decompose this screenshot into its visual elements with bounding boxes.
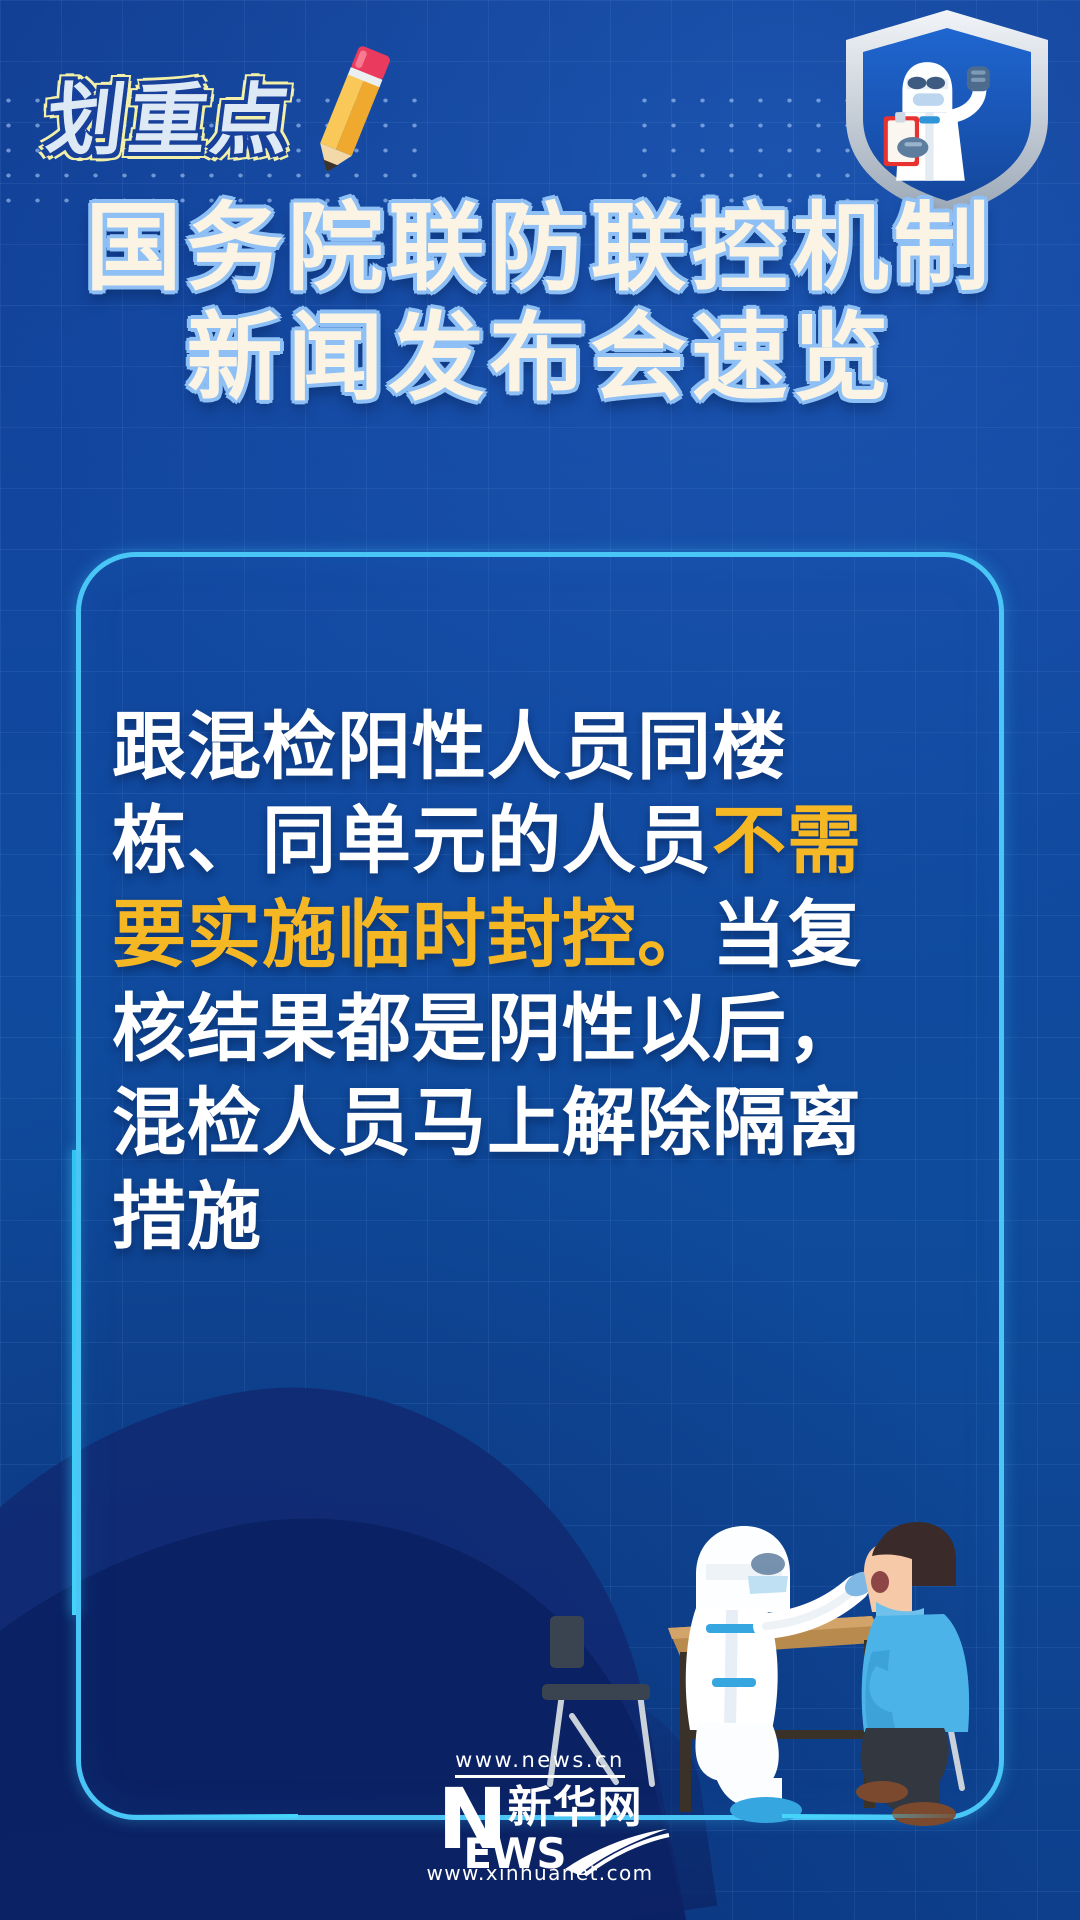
key-points-badge: 划重点 — [48, 58, 294, 170]
body-segment-1: 跟混检阳性人员同楼栋、同单元的人员 — [112, 704, 787, 884]
pencil-icon — [290, 42, 410, 182]
poster-title: 国务院联防联控机制 新闻发布会速览 — [0, 196, 1080, 410]
poster-header: 划重点 — [0, 0, 1080, 215]
title-line-1: 国务院联防联控机制 — [0, 196, 1080, 300]
body-paragraph: 跟混检阳性人员同楼栋、同单元的人员不需要实施临时封控。当复核结果都是阴性以后，混… — [112, 700, 872, 1264]
logo-swoosh-icon — [563, 1823, 671, 1877]
logo-word-news: EWS — [463, 1829, 565, 1878]
footer-rule-left — [108, 1814, 298, 1818]
xinhua-footer: www.news.cn N 新华网 EWS www.xinhuanet.com — [0, 1748, 1080, 1885]
poster-root: 划重点 — [0, 0, 1080, 1920]
footer-rule-right — [782, 1814, 972, 1818]
title-line-2: 新闻发布会速览 — [0, 306, 1080, 410]
shield-medical-worker-icon — [832, 6, 1062, 218]
xinhua-logo-mark: N 新华网 EWS — [437, 1783, 642, 1855]
key-points-label: 划重点 — [41, 58, 301, 170]
